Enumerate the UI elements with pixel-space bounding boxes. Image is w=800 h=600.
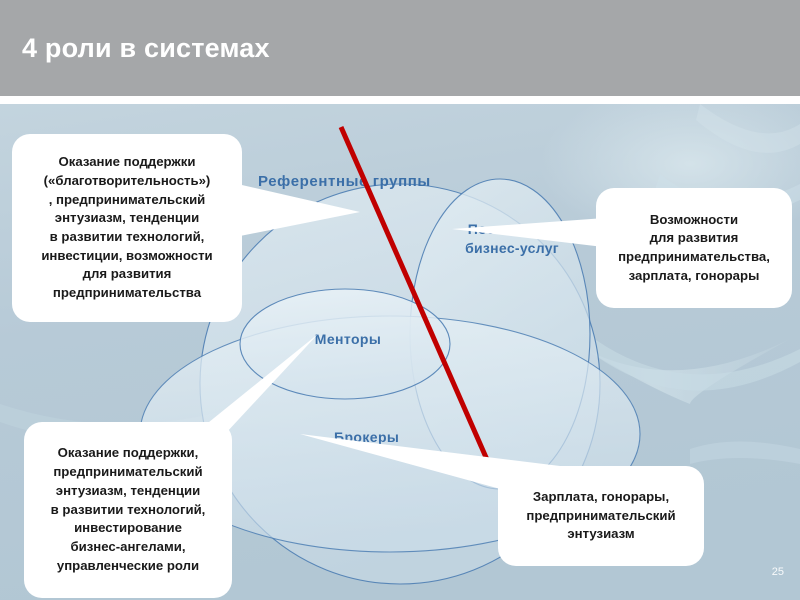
callout-line: в развитии технологий, [51,501,206,520]
callout-line: энтузиазм, тенденции [51,482,206,501]
header-band: 4 роли в системах [0,0,800,96]
callout-line: для развития [41,265,212,284]
callout-line: предпринимательский [51,463,206,482]
callout-line: бизнес-ангелами, [51,538,206,557]
page-number: 25 [772,566,784,578]
callout-bottom-right-text: Зарплата, гонорары, предпринимательский … [520,488,681,544]
callout-bottom-right-body[interactable]: Зарплата, гонорары, предпринимательский … [498,466,704,566]
callout-line: предпринимательства [41,284,212,303]
callout-line: предпринимательства, [618,248,770,267]
callout-line: Возможности [618,211,770,230]
callout-line: предпринимательский [526,507,675,526]
callout-bottom-left-text: Оказание поддержки, предпринимательский … [45,444,212,575]
callout-line: («благотворительность») [41,172,212,191]
callout-line: инвестирование [51,519,206,538]
callout-line: , предпринимательский [41,191,212,210]
callout-top-left-text: Оказание поддержки («благотворительность… [35,153,218,303]
callout-line: энтузиазм [526,525,675,544]
callout-line: в развитии технологий, [41,228,212,247]
callout-line: Зарплата, гонорары, [526,488,675,507]
slide-canvas: Референтные группы Поставщики бизнес-усл… [0,0,800,600]
callout-line: зарплата, гонорары [618,267,770,286]
callout-line: инвестиции, возможности [41,247,212,266]
callout-top-right-body[interactable]: Возможности для развития предприниматель… [596,188,792,308]
callout-line: Оказание поддержки [41,153,212,172]
callout-line: энтузиазм, тенденции [41,209,212,228]
page-title: 4 роли в системах [22,33,270,64]
callout-top-right-text: Возможности для развития предприниматель… [612,211,776,286]
header-divider [0,96,800,104]
callout-bottom-left-body[interactable]: Оказание поддержки, предпринимательский … [24,422,232,598]
callout-top-left-body[interactable]: Оказание поддержки («благотворительность… [12,134,242,322]
callout-line: Оказание поддержки, [51,444,206,463]
callout-line: управленческие роли [51,557,206,576]
callout-line: для развития [618,229,770,248]
